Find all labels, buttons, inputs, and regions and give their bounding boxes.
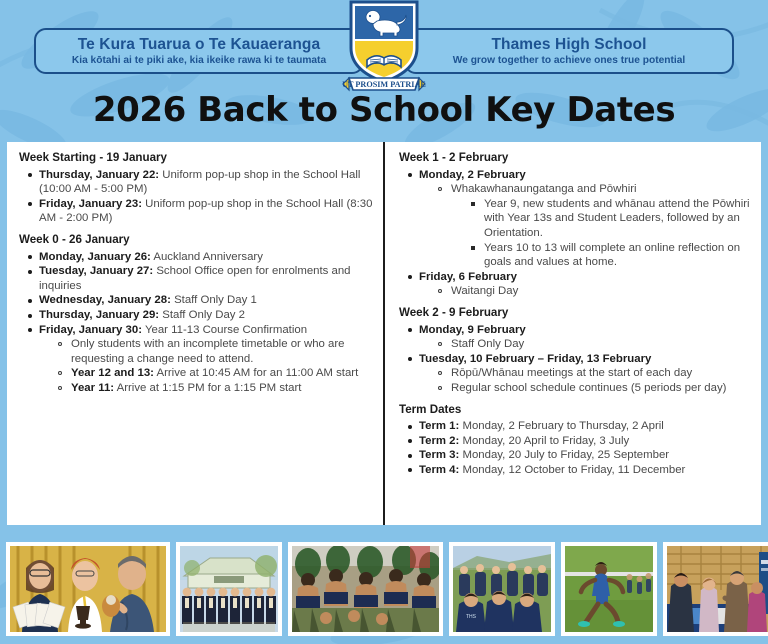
- date-subitem-text: Whakawhanaungatanga and Pōwhiri: [451, 183, 637, 195]
- date-list: Thursday, January 22: Uniform pop-up sho…: [17, 168, 373, 226]
- english-school-motto: We grow together to achieve ones true po…: [453, 54, 685, 67]
- date-sublist: Whakawhanaungatanga and PōwhiriYear 9, n…: [436, 182, 751, 270]
- english-school-name: Thames High School: [491, 36, 646, 53]
- date-item-label: Friday, January 23:: [39, 198, 142, 210]
- section-heading: Week 2 - 9 February: [399, 306, 751, 321]
- date-item-label: Tuesday, January 27:: [39, 265, 153, 277]
- date-subitem-text: Rōpū/Whānau meetings at the start of eac…: [451, 367, 692, 379]
- date-item: Tuesday, 10 February – Friday, 13 Februa…: [402, 352, 751, 396]
- date-item-label: Monday, 2 February: [419, 169, 526, 181]
- date-list: Monday, January 26: Auckland Anniversary…: [17, 250, 373, 396]
- date-item-label: Friday, January 30:: [39, 324, 142, 336]
- date-sublist: Waitangi Day: [436, 284, 751, 299]
- maori-school-motto: Kia kōtahi ai te piki ake, kia ikeike ra…: [72, 54, 326, 67]
- photo-athletics-runner: [561, 542, 657, 636]
- date-item: Term 4: Monday, 12 October to Friday, 11…: [402, 463, 751, 478]
- photo-strip: THS: [0, 533, 768, 644]
- right-column: Week 1 - 2 FebruaryMonday, 2 FebruaryWha…: [383, 142, 761, 525]
- date-item-text: Auckland Anniversary: [151, 251, 263, 263]
- date-item-text: Monday, 2 February to Thursday, 2 April: [459, 420, 664, 432]
- date-item: Wednesday, January 28: Staff Only Day 1: [22, 293, 373, 308]
- photo-student-group-uniform: [176, 542, 282, 636]
- date-subitem-text: Waitangi Day: [451, 285, 518, 297]
- section-heading: Week Starting - 19 January: [19, 151, 373, 166]
- date-item-text: Year 11-13 Course Confirmation: [142, 324, 307, 336]
- date-item-label: Thursday, January 29:: [39, 309, 159, 321]
- date-list: Term 1: Monday, 2 February to Thursday, …: [397, 419, 751, 477]
- date-item-label: Wednesday, January 28:: [39, 294, 171, 306]
- photo-kapa-haka: [288, 542, 443, 636]
- date-subitem: Rōpū/Whānau meetings at the start of eac…: [436, 366, 751, 381]
- date-subitem-text: Regular school schedule continues (5 per…: [451, 382, 726, 394]
- date-item: Term 3: Monday, 20 July to Friday, 25 Se…: [402, 448, 751, 463]
- svg-text:THS: THS: [466, 614, 477, 620]
- section-heading: Week 1 - 2 February: [399, 151, 751, 166]
- english-school-name-ribbon: Thames High School We grow together to a…: [404, 28, 734, 74]
- date-list: Monday, 2 FebruaryWhakawhanaungatanga an…: [397, 168, 751, 299]
- date-item-label: Monday, January 26:: [39, 251, 151, 263]
- date-item-text: Monday, 20 April to Friday, 3 July: [459, 435, 629, 447]
- key-dates-card: Week Starting - 19 JanuaryThursday, Janu…: [7, 142, 761, 525]
- date-item: Monday, January 26: Auckland Anniversary: [22, 250, 373, 265]
- date-subitem: Only students with an incomplete timetab…: [56, 337, 373, 366]
- date-item: Term 2: Monday, 20 April to Friday, 3 Ju…: [402, 434, 751, 449]
- date-subitem-text: Only students with an incomplete timetab…: [71, 338, 345, 365]
- date-item: Term 1: Monday, 2 February to Thursday, …: [402, 419, 751, 434]
- date-item: Monday, 2 FebruaryWhakawhanaungatanga an…: [402, 168, 751, 270]
- date-subitem: Whakawhanaungatanga and PōwhiriYear 9, n…: [436, 182, 751, 270]
- date-item: Thursday, January 22: Uniform pop-up sho…: [22, 168, 373, 197]
- page-title: 2026 Back to School Key Dates: [0, 90, 768, 130]
- date-item-label: Friday, 6 February: [419, 271, 517, 283]
- date-subitem: Year 11: Arrive at 1:15 PM for a 1:15 PM…: [56, 381, 373, 396]
- section-heading: Week 0 - 26 January: [19, 233, 373, 248]
- page-header: Te Kura Tuarua o Te Kauaeranga Kia kōtah…: [0, 0, 768, 86]
- school-crest-icon: UT PROSIM PATRIAE: [339, 0, 429, 94]
- photo-sports-team-huddle: THS: [449, 542, 555, 636]
- maori-school-name-ribbon: Te Kura Tuarua o Te Kauaeranga Kia kōtah…: [34, 28, 364, 74]
- date-item: Monday, 9 FebruaryStaff Only Day: [402, 323, 751, 352]
- date-sublist: Staff Only Day: [436, 337, 751, 352]
- date-item: Tuesday, January 27: School Office open …: [22, 264, 373, 293]
- date-subsubitem-text: Years 10 to 13 will complete an online r…: [484, 242, 740, 269]
- date-subitem-label: Year 12 and 13:: [71, 367, 154, 379]
- date-item-label: Tuesday, 10 February – Friday, 13 Februa…: [419, 353, 651, 365]
- crest-motto-text: UT PROSIM PATRIAE: [342, 80, 426, 89]
- section-heading: Term Dates: [399, 403, 751, 418]
- maori-school-name: Te Kura Tuarua o Te Kauaeranga: [78, 36, 320, 53]
- date-subitem: Regular school schedule continues (5 per…: [436, 381, 751, 396]
- date-item: Friday, January 23: Uniform pop-up shop …: [22, 197, 373, 226]
- date-item: Friday, January 30: Year 11-13 Course Co…: [22, 323, 373, 396]
- date-item-label: Term 3:: [419, 449, 459, 461]
- date-subitem: Staff Only Day: [436, 337, 751, 352]
- date-sublist: Only students with an incomplete timetab…: [56, 337, 373, 395]
- date-subsubitem: Year 9, new students and whānau attend t…: [469, 197, 751, 241]
- date-item-label: Thursday, January 22:: [39, 169, 159, 181]
- photo-awards-presentation: [6, 542, 170, 636]
- date-subitem-text: Arrive at 1:15 PM for a 1:15 PM start: [114, 382, 301, 394]
- date-item-label: Term 4:: [419, 464, 459, 476]
- left-column: Week Starting - 19 JanuaryThursday, Janu…: [7, 142, 383, 525]
- photo-careers-expo: [663, 542, 768, 636]
- date-subsublist: Year 9, new students and whānau attend t…: [469, 197, 751, 270]
- date-subsubitem-text: Year 9, new students and whānau attend t…: [484, 198, 750, 239]
- date-item-label: Monday, 9 February: [419, 324, 526, 336]
- date-item-text: Staff Only Day 2: [159, 309, 245, 321]
- date-item-text: Monday, 20 July to Friday, 25 September: [459, 449, 669, 461]
- date-item-label: Term 1:: [419, 420, 459, 432]
- date-item: Friday, 6 FebruaryWaitangi Day: [402, 270, 751, 299]
- date-item-text: Staff Only Day 1: [171, 294, 257, 306]
- date-subitem-label: Year 11:: [71, 382, 114, 394]
- date-item: Thursday, January 29: Staff Only Day 2: [22, 308, 373, 323]
- date-subitem-text: Staff Only Day: [451, 338, 524, 350]
- date-item-text: Monday, 12 October to Friday, 11 Decembe…: [459, 464, 685, 476]
- date-subitem-text: Arrive at 10:45 AM for an 11:00 AM start: [154, 367, 358, 379]
- date-subitem: Year 12 and 13: Arrive at 10:45 AM for a…: [56, 366, 373, 381]
- date-sublist: Rōpū/Whānau meetings at the start of eac…: [436, 366, 751, 395]
- date-list: Monday, 9 FebruaryStaff Only DayTuesday,…: [397, 323, 751, 396]
- date-subsubitem: Years 10 to 13 will complete an online r…: [469, 241, 751, 270]
- date-subitem: Waitangi Day: [436, 284, 751, 299]
- date-item-label: Term 2:: [419, 435, 459, 447]
